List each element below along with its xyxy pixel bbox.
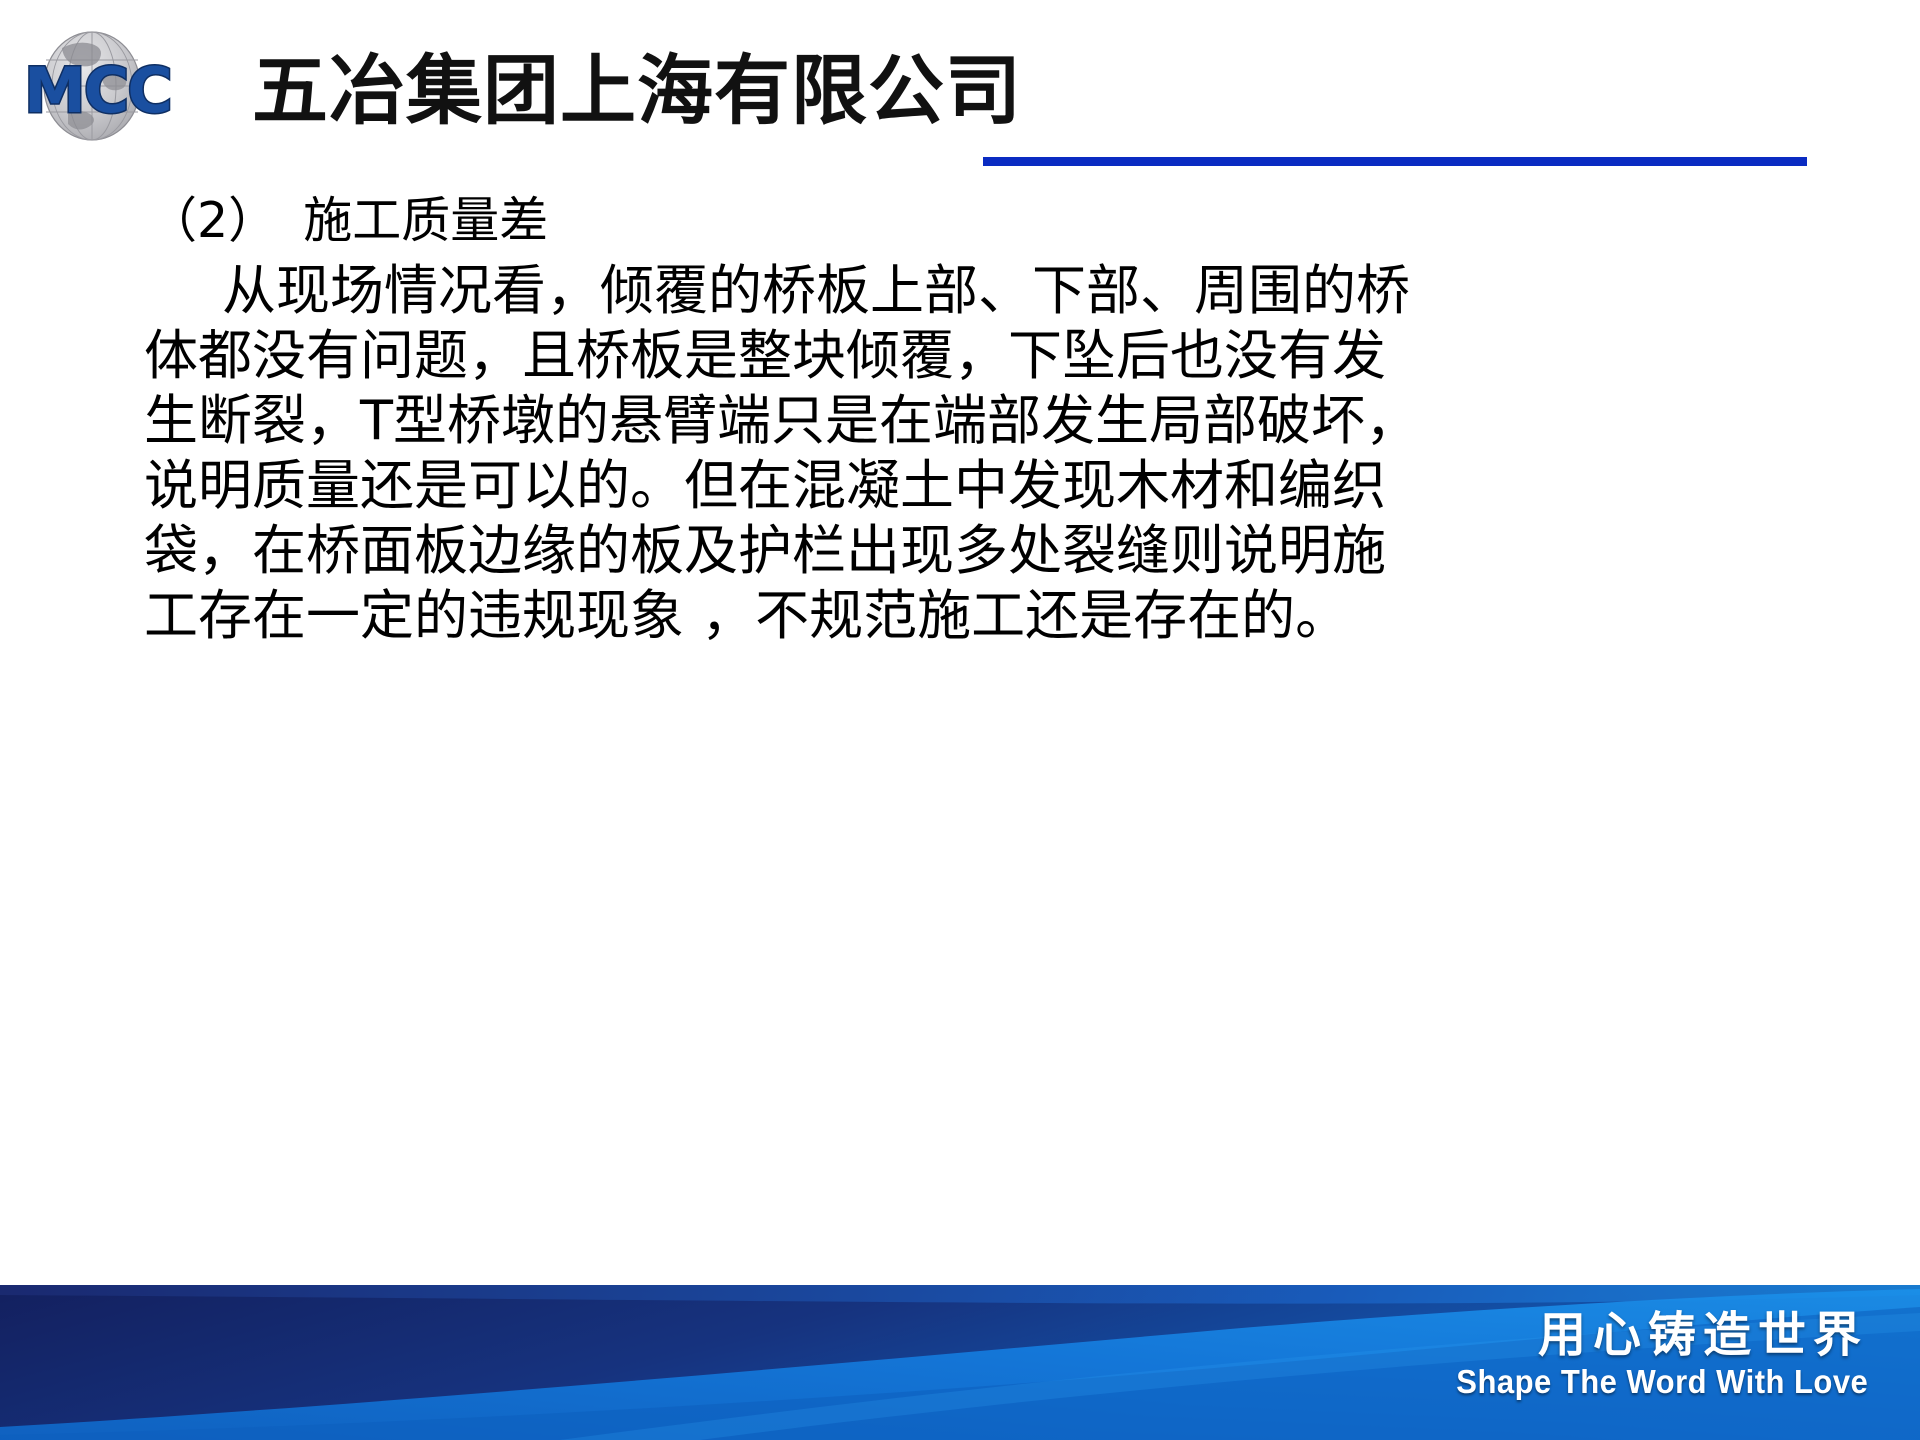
section-title: 施工质量差 <box>303 192 548 249</box>
header-rule <box>983 157 1807 166</box>
paragraph-line: 说明质量还是可以的。但在混凝土中发现木材和编织 <box>144 453 1704 518</box>
company-name: 五冶集团上海有限公司 <box>252 48 1022 134</box>
slide-header: MCC 五冶集团上海有限公司 <box>0 0 1920 175</box>
paragraph-line: 从现场情况看，倾覆的桥板上部、下部、周围的桥 <box>144 258 1704 323</box>
footer-banner-graphic <box>0 1285 1920 1440</box>
mcc-logo: MCC <box>22 28 237 148</box>
svg-text:MCC: MCC <box>24 54 171 127</box>
paragraph-line: 生断裂，T型桥墩的悬臂端只是在端部发生局部破坏， <box>144 388 1704 453</box>
paragraph-line: 体都没有问题，且桥板是整块倾覆，下坠后也没有发 <box>144 323 1704 388</box>
section-number: （2） <box>148 192 277 249</box>
section-heading: （2）施工质量差 <box>148 190 548 252</box>
body-paragraph: 从现场情况看，倾覆的桥板上部、下部、周围的桥 体都没有问题，且桥板是整块倾覆，下… <box>144 258 1704 648</box>
paragraph-line: 工存在一定的违规现象 ，不规范施工还是存在的。 <box>144 583 1704 648</box>
mcc-wordmark: MCC <box>24 54 171 127</box>
paragraph-line: 袋，在桥面板边缘的板及护栏出现多处裂缝则说明施 <box>144 518 1704 583</box>
slide-footer: 用心铸造世界 Shape The Word With Love <box>0 1285 1920 1440</box>
